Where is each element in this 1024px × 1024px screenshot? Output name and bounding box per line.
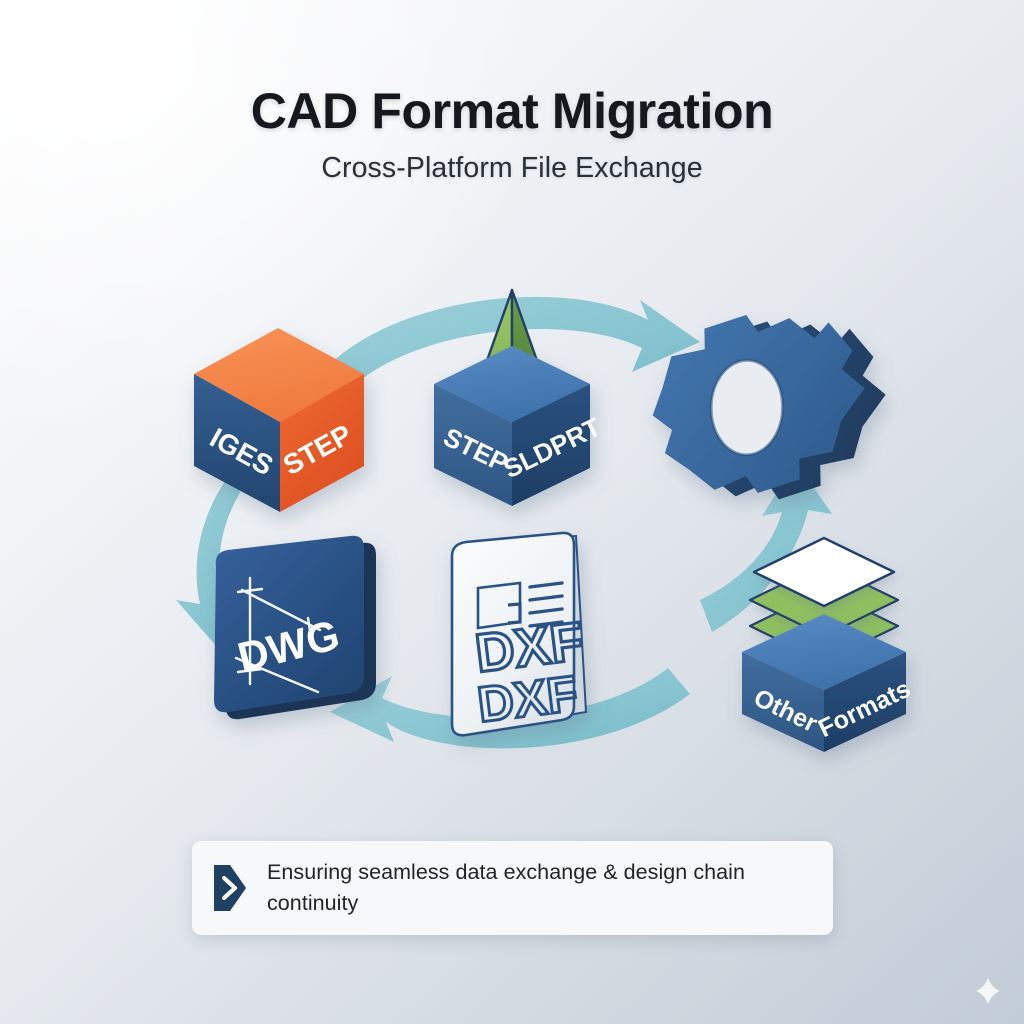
chevron-right-icon bbox=[214, 865, 246, 911]
caption-text: Ensuring seamless data exchange & design… bbox=[267, 857, 777, 918]
sparkle-icon bbox=[976, 978, 1000, 1004]
node-gear[interactable] bbox=[632, 287, 906, 523]
node-dxf-document[interactable]: DXF DXF bbox=[452, 533, 587, 735]
poster-canvas: CAD Format Migration Cross-Platform File… bbox=[0, 0, 1024, 1024]
caption-bar: Ensuring seamless data exchange & design… bbox=[192, 841, 833, 935]
